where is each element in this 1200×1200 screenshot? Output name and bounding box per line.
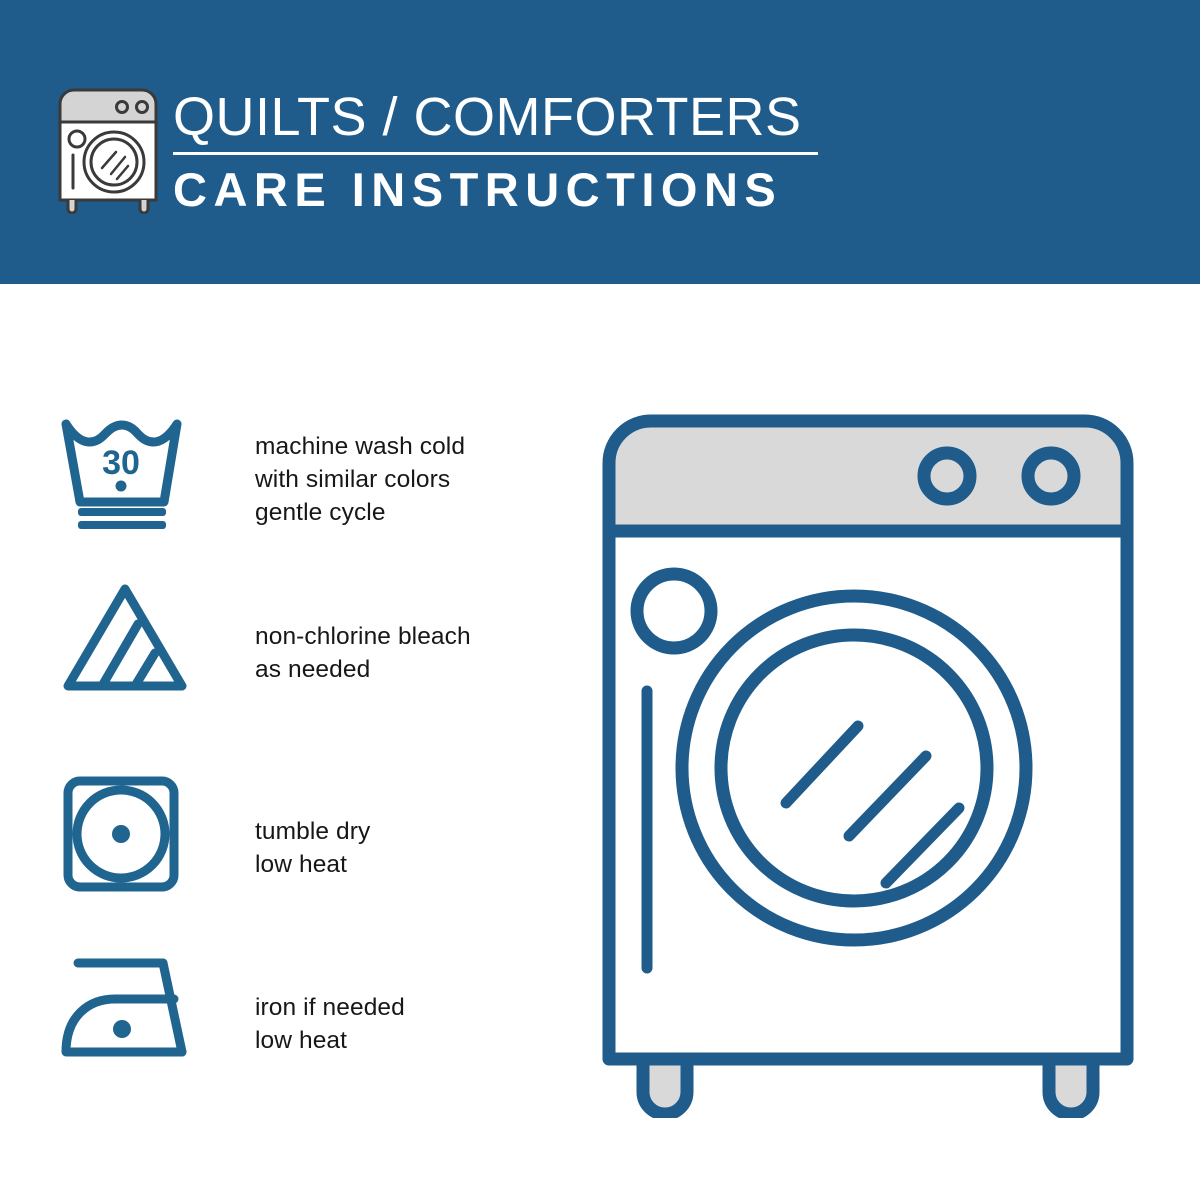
care-row-iron: iron if needed low heat — [0, 949, 520, 1109]
bleach-triangle-icon — [60, 579, 200, 699]
door-outer-ring — [682, 596, 1026, 940]
control-panel-fill — [609, 421, 1127, 531]
care-text-wash: machine wash cold with similar colors ge… — [255, 430, 465, 529]
wash-temperature-label: 30 — [102, 444, 140, 482]
care-text-line: non-chlorine bleach — [255, 620, 471, 653]
header-titles: QUILTS / COMFORTERS CARE INSTRUCTIONS — [173, 86, 823, 219]
title-divider — [173, 152, 818, 155]
care-text-line: iron if needed — [255, 991, 405, 1024]
tumble-dry-dot — [112, 825, 130, 843]
wash-dot — [116, 481, 127, 492]
door-shine-lines — [786, 726, 959, 883]
header-band: QUILTS / COMFORTERS CARE INSTRUCTIONS — [0, 0, 1200, 284]
care-text-line: with similar colors — [255, 463, 465, 496]
washing-machine-illustration — [596, 408, 1166, 1118]
care-text-line: low heat — [255, 1024, 405, 1057]
dispenser-circle — [637, 574, 711, 648]
wash-tub-icon: 30 — [60, 412, 200, 532]
care-text-tumble-dry: tumble dry low heat — [255, 815, 370, 881]
page-title-primary: QUILTS / COMFORTERS — [173, 86, 823, 148]
iron-icon — [60, 949, 200, 1069]
care-row-tumble-dry: tumble dry low heat — [0, 774, 520, 934]
care-text-iron: iron if needed low heat — [255, 991, 405, 1057]
tumble-dry-icon — [60, 774, 200, 894]
washing-machine-icon — [52, 78, 164, 214]
care-text-line: low heat — [255, 848, 370, 881]
care-row-wash: 30 machine wash cold with similar colors… — [0, 412, 520, 572]
care-text-line: tumble dry — [255, 815, 370, 848]
foot-right — [1049, 1059, 1093, 1114]
door-inner-ring — [721, 635, 987, 901]
care-instruction-list: 30 machine wash cold with similar colors… — [0, 284, 560, 1200]
care-instructions-page: QUILTS / COMFORTERS CARE INSTRUCTIONS 30 — [0, 0, 1200, 1200]
foot-left — [643, 1059, 687, 1114]
page-title-secondary: CARE INSTRUCTIONS — [173, 161, 823, 219]
care-text-line: machine wash cold — [255, 430, 465, 463]
care-text-line: gentle cycle — [255, 496, 465, 529]
care-text-line: as needed — [255, 653, 471, 686]
care-row-bleach: non-chlorine bleach as needed — [0, 579, 520, 739]
care-text-bleach: non-chlorine bleach as needed — [255, 620, 471, 686]
iron-dot — [113, 1020, 131, 1038]
